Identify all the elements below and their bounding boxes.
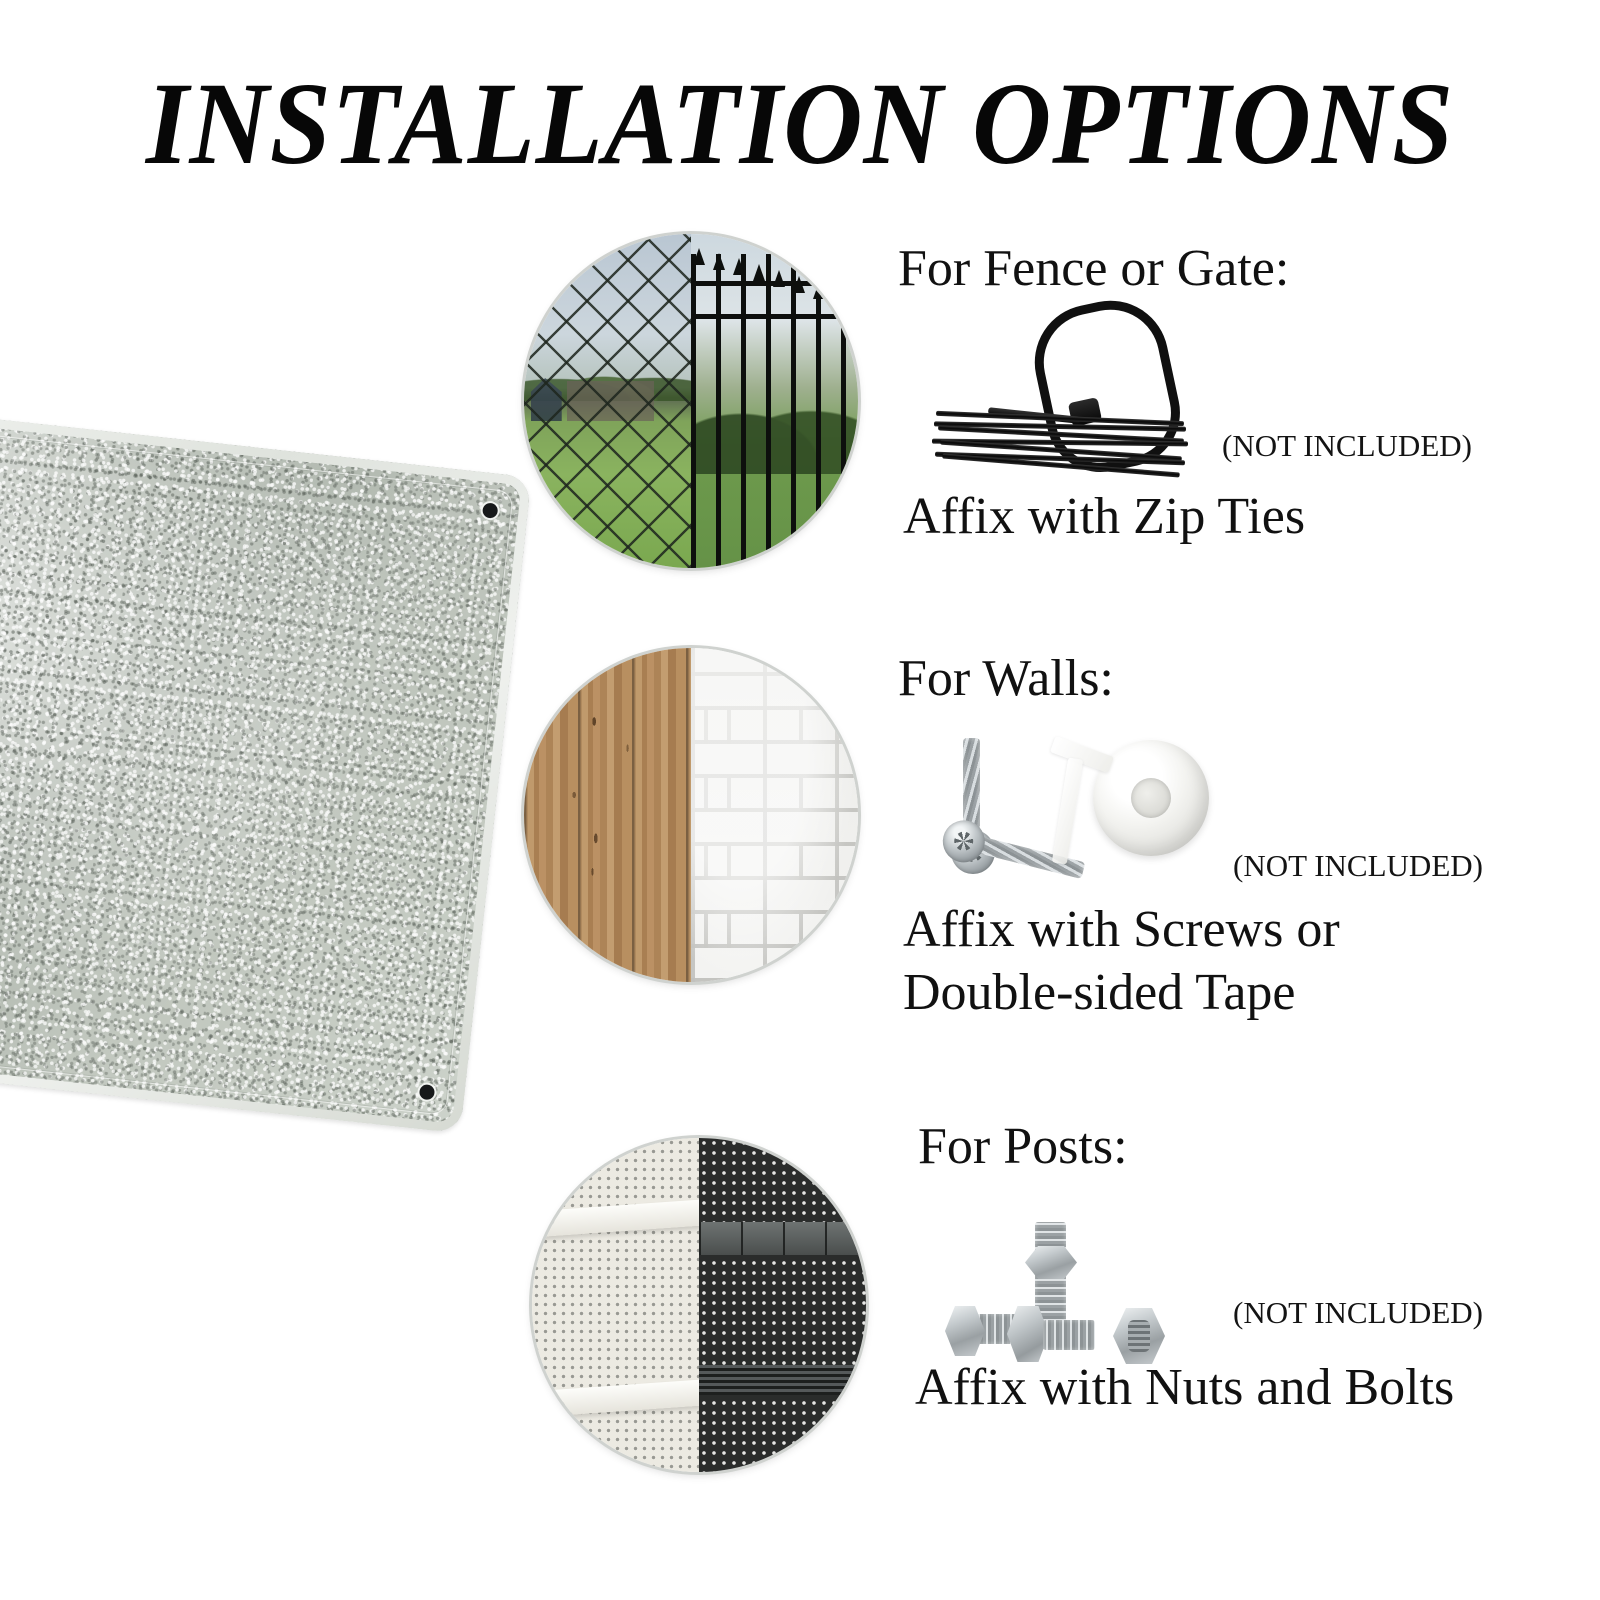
white-brick-wall-image: [691, 648, 858, 982]
not-included-label-fence: (NOT INCLUDED): [1222, 430, 1472, 461]
dark-perforated-panel-image: [699, 1138, 866, 1472]
heading-walls: For Walls:: [898, 653, 1114, 705]
spear-finial: [773, 270, 785, 287]
nuts-and-bolts-illustration: [945, 1222, 1175, 1372]
metal-sign-plate: [0, 399, 532, 1134]
plate-sheen: [0, 399, 532, 1134]
zip-tie-bundle: [930, 412, 1195, 468]
iron-gate-image: [691, 234, 858, 568]
spear-finial: [833, 288, 845, 305]
white-perforated-panel-image: [532, 1138, 699, 1472]
fence-gate-photo: [524, 234, 858, 568]
tape-strip-hanging: [1052, 757, 1083, 864]
perforated-posts-photo: [532, 1138, 866, 1472]
wood-plank-wall-image: [524, 648, 691, 982]
perforation-dots-dark: [699, 1138, 866, 1472]
chain-link-fence-image: [524, 234, 691, 568]
spear-finial: [713, 253, 725, 270]
affix-text-posts: Affix with Nuts and Bolts: [915, 1358, 1454, 1418]
spear-finial: [753, 264, 765, 281]
gate-rail-lower: [691, 314, 858, 319]
heading-posts: For Posts:: [918, 1121, 1128, 1173]
brick-shading: [691, 648, 858, 982]
wall-surfaces-photo: [524, 648, 858, 982]
page-title: INSTALLATION OPTIONS: [56, 62, 1544, 186]
wood-grain-knots: [524, 648, 691, 982]
not-included-label-posts: (NOT INCLUDED): [1233, 1297, 1483, 1328]
affix-text-walls-line1: Affix with Screws or: [903, 900, 1340, 960]
spear-finial: [733, 258, 745, 275]
spear-finial: [793, 276, 805, 293]
heading-fence-gate: For Fence or Gate:: [898, 243, 1289, 295]
hex-nut-standalone: [1113, 1308, 1165, 1364]
tape-roll-core: [1131, 778, 1171, 818]
screws-and-tape-illustration: [925, 728, 1225, 888]
panel-gridlines: [699, 1222, 866, 1255]
panel-band-lower: [699, 1365, 866, 1395]
infographic-canvas: INSTALLATION OPTIONS: [0, 0, 1600, 1600]
plate-surface: [0, 399, 532, 1134]
affix-text-walls-line2: Double-sided Tape: [903, 963, 1296, 1023]
perforation-dots-light: [532, 1138, 699, 1472]
hex-nut-on-bolt: [1025, 1246, 1077, 1279]
zip-ties-illustration: [930, 300, 1210, 470]
spear-finial: [693, 248, 705, 265]
affix-text-fence: Affix with Zip Ties: [903, 487, 1305, 547]
chain-link-mesh: [524, 234, 691, 568]
spear-finial: [813, 282, 825, 299]
not-included-label-walls: (NOT INCLUDED): [1233, 850, 1483, 881]
tape-strip-upper: [1050, 736, 1114, 773]
